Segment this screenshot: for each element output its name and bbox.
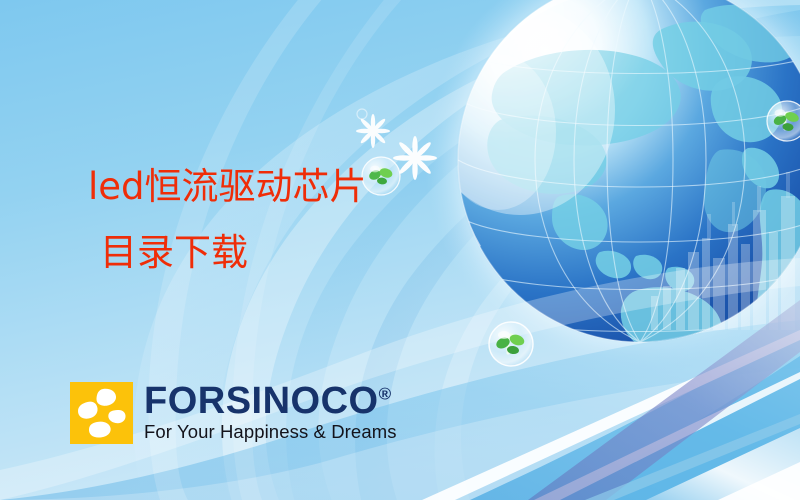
sprout-bubble-center: [489, 322, 533, 366]
sprout-bubble-right: [767, 101, 800, 141]
registered-trademark-symbol: ®: [379, 384, 392, 403]
headline-line-1: led恒流驱动芯片: [88, 168, 367, 207]
company-logo-lockup: FORSINOCO® For Your Happiness & Dreams: [70, 382, 397, 444]
forsinoco-flower-mark-icon: [70, 382, 133, 444]
sprout-bubble-left: [362, 157, 400, 195]
logo-text-block: FORSINOCO® For Your Happiness & Dreams: [144, 382, 397, 442]
logo-wordmark-text: FORSINOCO: [144, 380, 379, 422]
logo-tagline: For Your Happiness & Dreams: [144, 422, 397, 442]
headline-line-2: 目录下载: [100, 234, 248, 273]
logo-wordmark: FORSINOCO®: [144, 382, 397, 420]
slide-canvas: led恒流驱动芯片 目录下载 FORSINOCO® For Your Happi…: [0, 0, 800, 500]
